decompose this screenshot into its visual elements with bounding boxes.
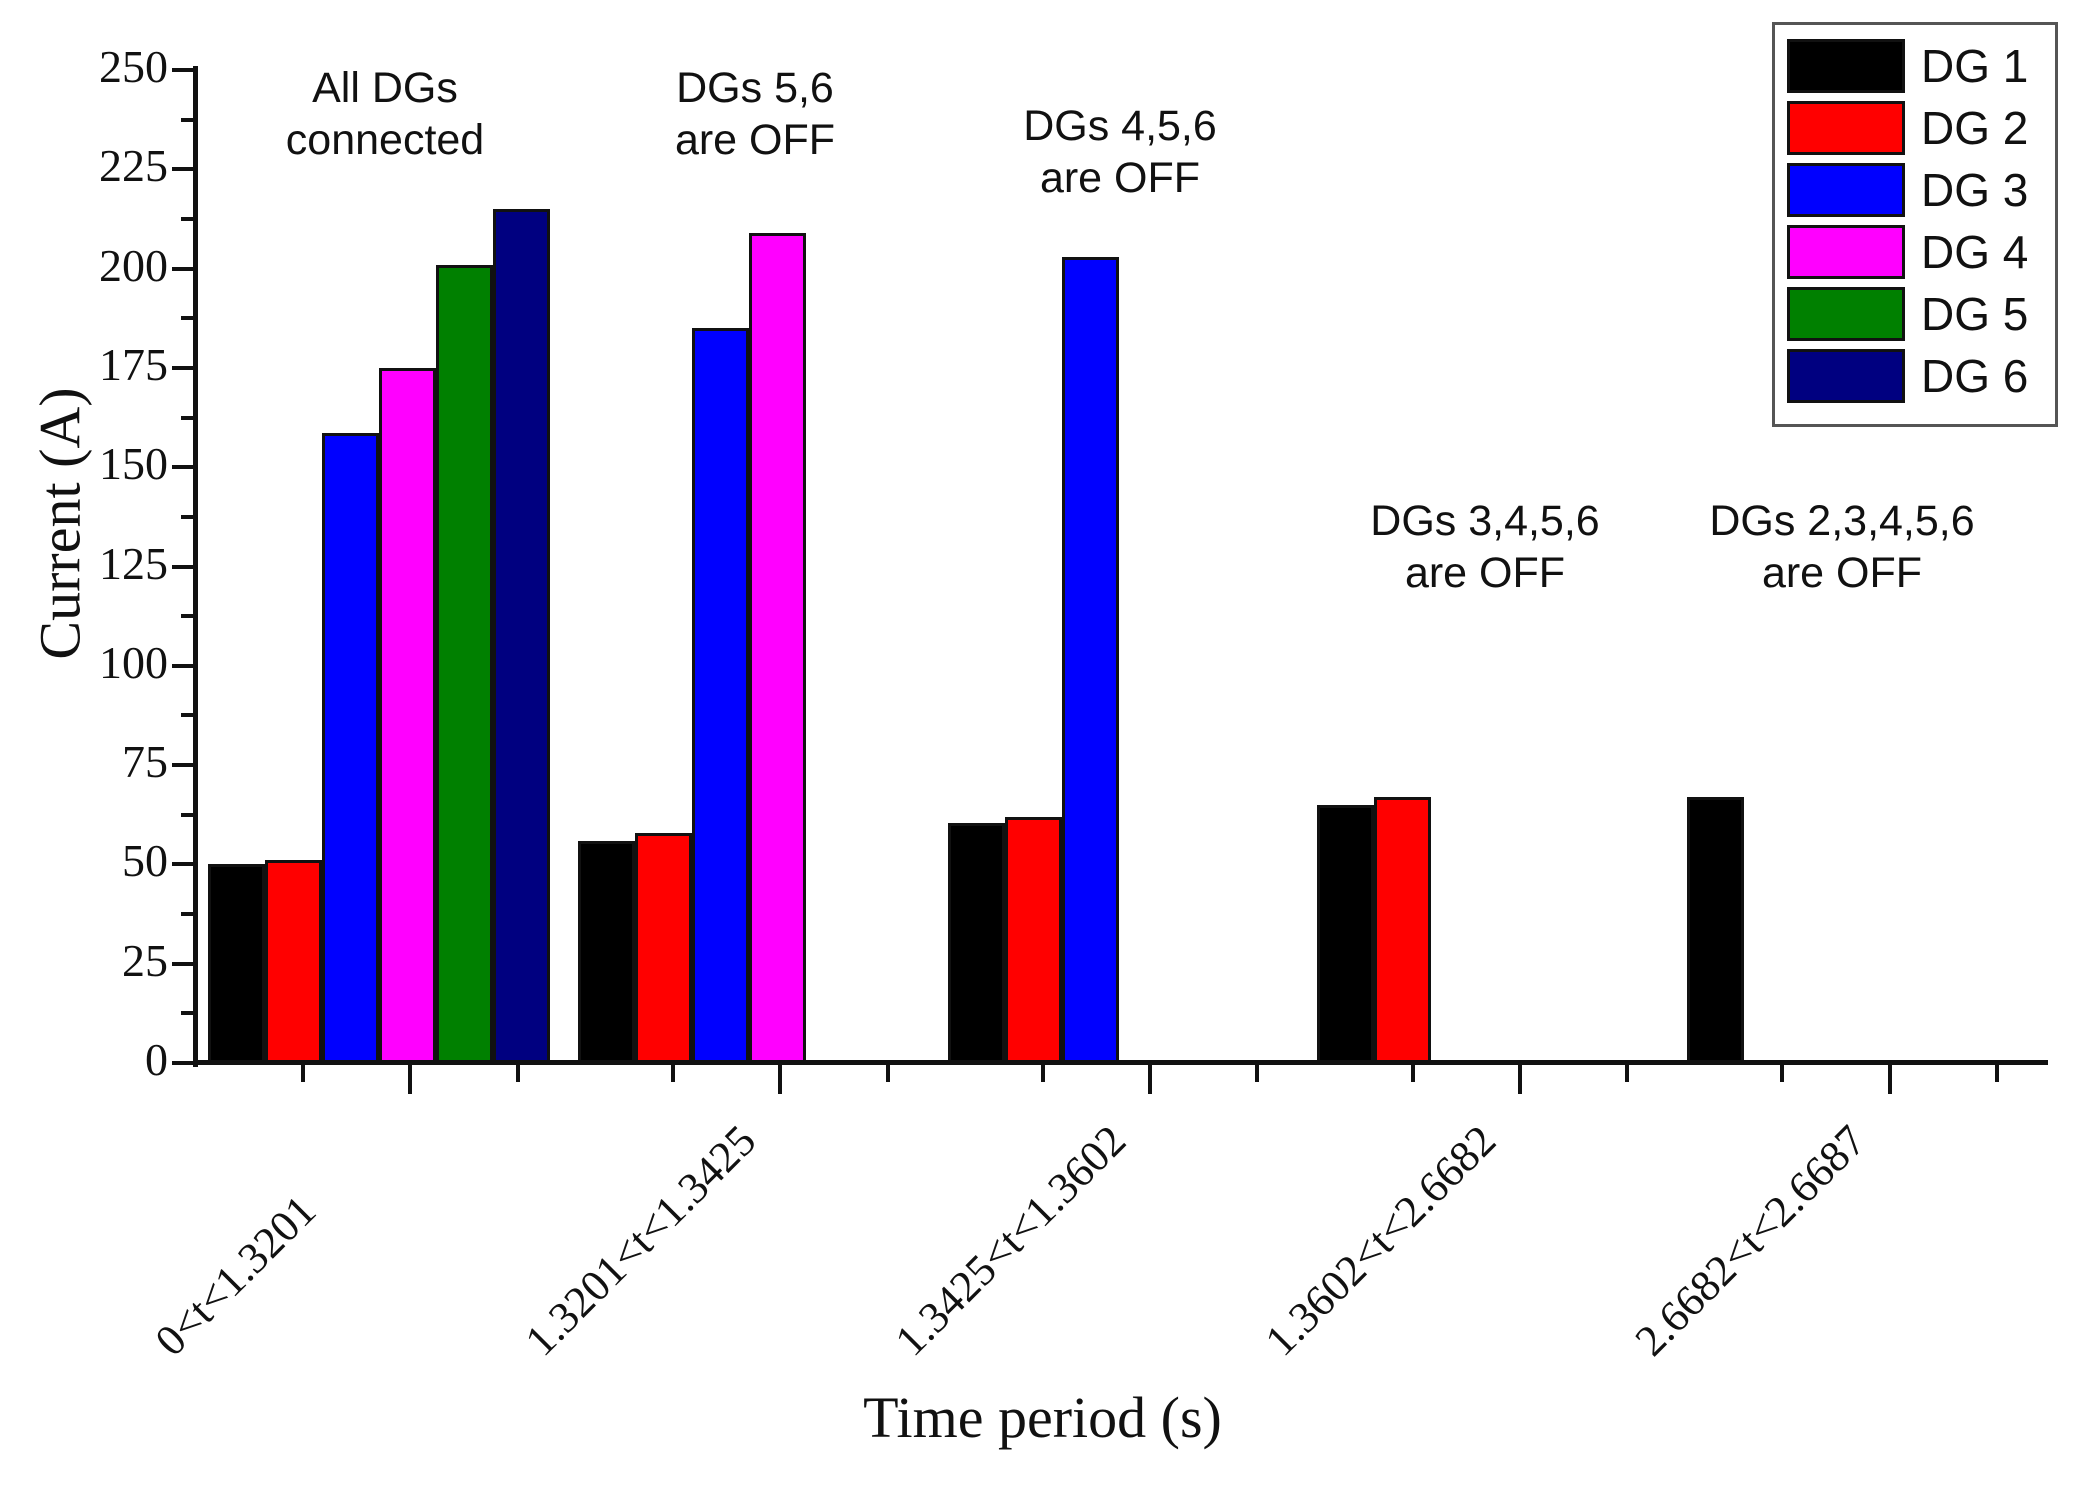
y-tick-minor xyxy=(181,217,194,221)
legend-item-dg-2[interactable]: DG 2 xyxy=(1787,97,2043,159)
bar-dg-1-g4 xyxy=(1317,805,1374,1063)
bar-dg-1-g2 xyxy=(578,841,635,1063)
y-tick-major xyxy=(172,167,194,171)
y-tick-major xyxy=(172,565,194,569)
annotation-1: All DGs connected xyxy=(215,62,555,166)
legend-item-dg-1[interactable]: DG 1 xyxy=(1787,35,2043,97)
y-tick-major xyxy=(172,366,194,370)
y-tick-major xyxy=(172,465,194,469)
legend-label: DG 1 xyxy=(1921,39,2028,93)
y-tick-minor xyxy=(181,813,194,817)
bar-dg-2-g3 xyxy=(1005,817,1062,1063)
y-tick-label: 200 xyxy=(20,243,168,289)
x-tick-minor xyxy=(1625,1064,1629,1082)
y-tick-major xyxy=(172,267,194,271)
y-tick-label: 25 xyxy=(20,938,168,984)
x-tick-minor xyxy=(1411,1064,1415,1082)
bar-dg-1-g5 xyxy=(1687,797,1744,1063)
x-tick-minor xyxy=(886,1064,890,1082)
x-tick-minor xyxy=(1041,1064,1045,1082)
legend-swatch-icon xyxy=(1787,39,1905,93)
x-tick-major xyxy=(1148,1064,1152,1094)
x-tick-label: 0<t<1.3201 xyxy=(145,1185,326,1366)
legend-swatch-icon xyxy=(1787,163,1905,217)
x-tick-minor xyxy=(671,1064,675,1082)
legend-label: DG 3 xyxy=(1921,163,2028,217)
legend-item-dg-3[interactable]: DG 3 xyxy=(1787,159,2043,221)
y-tick-label: 125 xyxy=(20,541,168,587)
bar-dg-1-g1 xyxy=(208,864,265,1063)
y-tick-label: 100 xyxy=(20,640,168,686)
bar-dg-2-g1 xyxy=(265,860,322,1063)
legend-label: DG 6 xyxy=(1921,349,2028,403)
annotation-4: DGs 3,4,5,6 are OFF xyxy=(1315,495,1655,599)
y-tick-label: 175 xyxy=(20,342,168,388)
x-tick-minor xyxy=(1780,1064,1784,1082)
x-tick-label: 1.3201<t<1.3425 xyxy=(515,1115,766,1366)
legend-item-dg-4[interactable]: DG 4 xyxy=(1787,221,2043,283)
x-tick-major xyxy=(1518,1064,1522,1094)
legend-swatch-icon xyxy=(1787,225,1905,279)
legend-item-dg-5[interactable]: DG 5 xyxy=(1787,283,2043,345)
y-tick-minor xyxy=(181,316,194,320)
y-tick-label: 225 xyxy=(20,143,168,189)
y-tick-major xyxy=(172,862,194,866)
x-tick-minor xyxy=(1995,1064,1999,1082)
y-tick-minor xyxy=(181,515,194,519)
x-axis-title: Time period (s) xyxy=(0,1384,2085,1451)
annotation-5: DGs 2,3,4,5,6 are OFF xyxy=(1672,495,2012,599)
legend: DG 1DG 2DG 3DG 4DG 5DG 6 xyxy=(1772,22,2058,427)
y-tick-label: 50 xyxy=(20,838,168,884)
y-tick-minor xyxy=(181,118,194,122)
bar-dg-3-g1 xyxy=(322,433,379,1063)
y-tick-major xyxy=(172,68,194,72)
bar-dg-5-g1 xyxy=(436,265,493,1063)
y-tick-major xyxy=(172,1061,194,1065)
x-tick-label: 1.3602<t<2.6682 xyxy=(1255,1115,1506,1366)
bar-dg-1-g3 xyxy=(948,823,1005,1063)
y-tick-major xyxy=(172,763,194,767)
legend-item-dg-6[interactable]: DG 6 xyxy=(1787,345,2043,407)
annotation-2: DGs 5,6 are OFF xyxy=(585,62,925,166)
y-tick-minor xyxy=(181,1011,194,1015)
bar-dg-3-g3 xyxy=(1062,257,1119,1063)
legend-swatch-icon xyxy=(1787,101,1905,155)
bar-dg-2-g2 xyxy=(635,833,692,1063)
x-tick-minor xyxy=(301,1064,305,1082)
legend-label: DG 4 xyxy=(1921,225,2028,279)
x-tick-major xyxy=(778,1064,782,1094)
legend-swatch-icon xyxy=(1787,287,1905,341)
y-tick-minor xyxy=(181,614,194,618)
x-tick-minor xyxy=(516,1064,520,1082)
legend-label: DG 5 xyxy=(1921,287,2028,341)
y-tick-label: 150 xyxy=(20,441,168,487)
legend-swatch-icon xyxy=(1787,349,1905,403)
y-tick-label: 250 xyxy=(20,44,168,90)
bar-dg-6-g1 xyxy=(493,209,550,1063)
y-tick-label: 75 xyxy=(20,739,168,785)
bar-chart-figure: Current (A) 0255075100125150175200225250… xyxy=(0,0,2085,1489)
bar-dg-3-g2 xyxy=(692,328,749,1063)
y-tick-minor xyxy=(181,416,194,420)
x-tick-label: 1.3425<t<1.3602 xyxy=(885,1115,1136,1366)
legend-label: DG 2 xyxy=(1921,101,2028,155)
x-tick-label: 2.6682<t<2.6687 xyxy=(1625,1115,1876,1366)
x-tick-minor xyxy=(1255,1064,1259,1082)
annotation-3: DGs 4,5,6 are OFF xyxy=(950,100,1290,204)
y-tick-major xyxy=(172,962,194,966)
y-tick-minor xyxy=(181,912,194,916)
y-tick-major xyxy=(172,664,194,668)
y-tick-label: 0 xyxy=(20,1037,168,1083)
bar-dg-4-g1 xyxy=(379,368,436,1063)
bar-dg-2-g4 xyxy=(1374,797,1431,1063)
y-tick-minor xyxy=(181,713,194,717)
bar-dg-4-g2 xyxy=(749,233,806,1063)
x-tick-major xyxy=(1888,1064,1892,1094)
x-tick-major xyxy=(408,1064,412,1094)
